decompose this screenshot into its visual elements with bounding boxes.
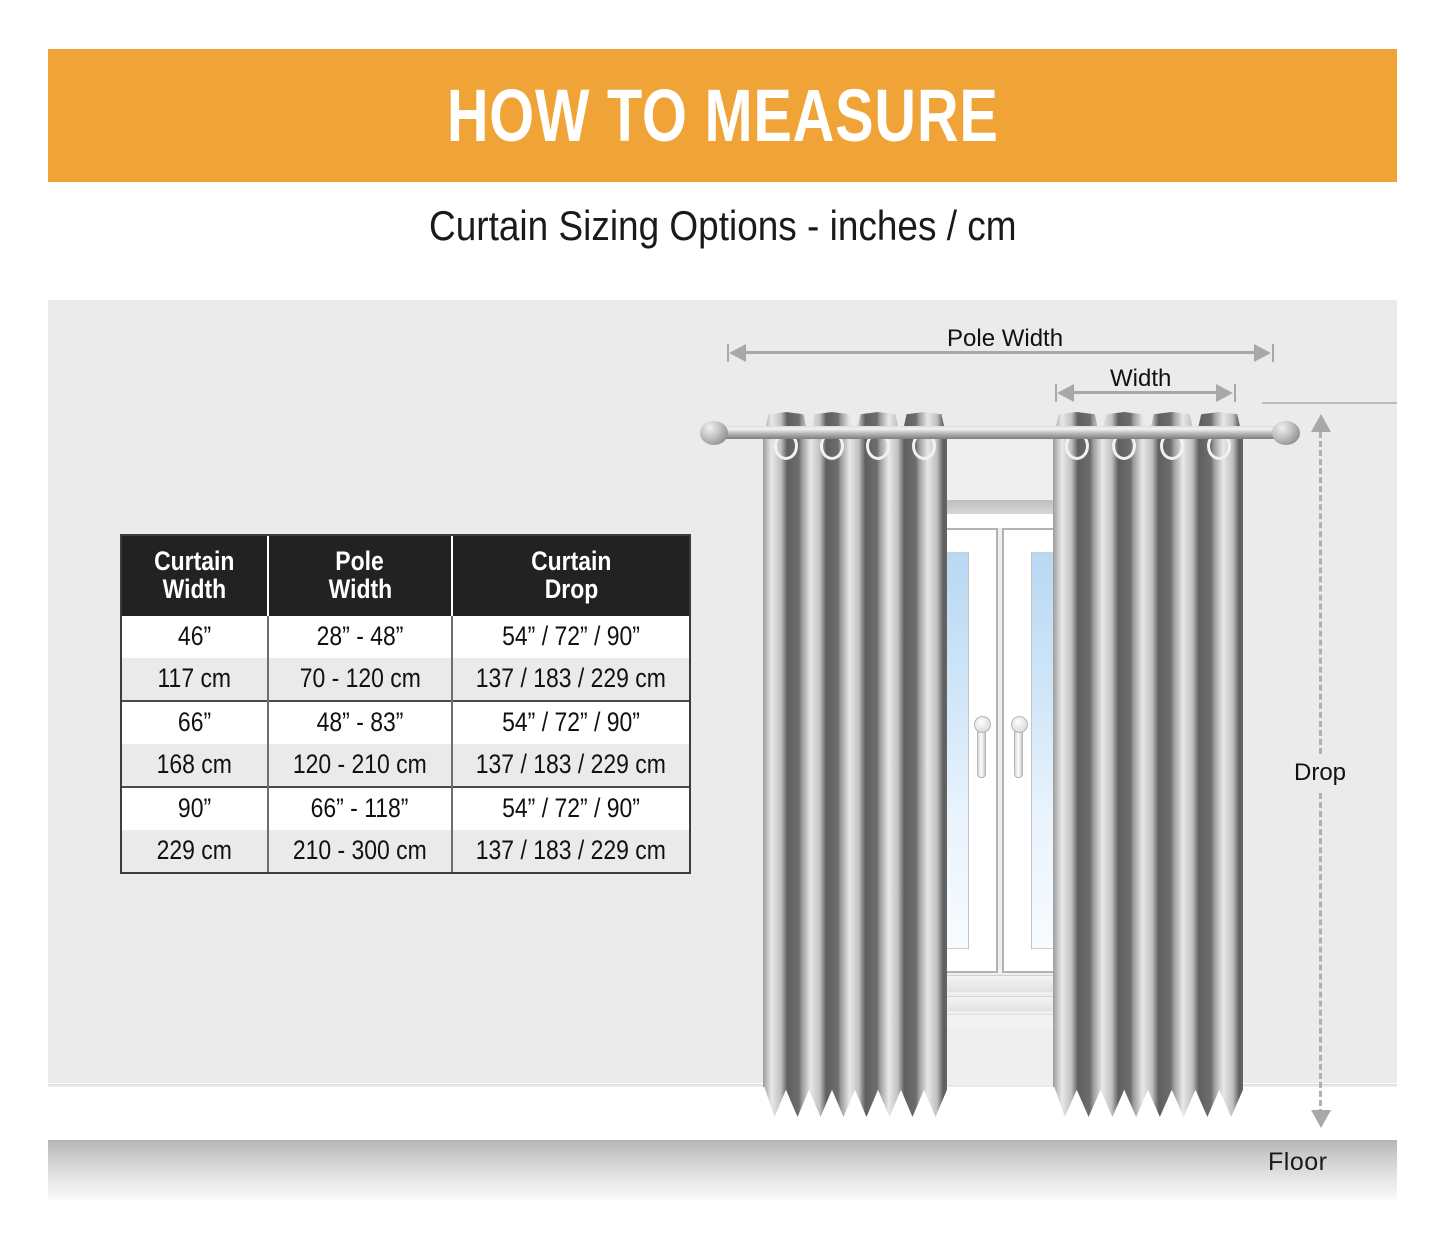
cell-pole-width-text: 210 - 300 cm — [293, 835, 427, 866]
subtitle-text: Curtain Sizing Options - inches / cm — [429, 205, 1016, 247]
table-row: 229 cm210 - 300 cm137 / 183 / 229 cm — [122, 830, 689, 872]
page-title: HOW TO MEASURE — [447, 79, 999, 153]
cell-curtain-drop: 137 / 183 / 229 cm — [452, 830, 689, 872]
cell-curtain-width-text: 66” — [178, 707, 211, 738]
cell-pole-width-text: 120 - 210 cm — [293, 749, 427, 780]
drop-arrow-up — [1311, 414, 1331, 432]
cell-curtain-width-text: 168 cm — [157, 749, 232, 780]
column-header-curtain-width: Curtain Width — [122, 536, 268, 616]
cell-pole-width: 48” - 83” — [268, 701, 453, 744]
col2-line1: Pole — [336, 548, 384, 576]
cell-pole-width: 28” - 48” — [268, 616, 453, 658]
curtain-fabric — [1053, 430, 1243, 1087]
curtain-sizing-table: Curtain Width Pole Width Curtain Drop 46… — [122, 536, 689, 872]
table-row: 46”28” - 48”54” / 72” / 90” — [122, 616, 689, 658]
col1-line1: Curtain — [154, 548, 234, 576]
width-line — [1072, 391, 1218, 394]
cell-curtain-width: 168 cm — [122, 744, 268, 787]
table-header-row: Curtain Width Pole Width Curtain Drop — [122, 536, 689, 616]
curtain-hem — [763, 1083, 947, 1117]
col1-line2: Width — [163, 576, 227, 604]
cell-pole-width: 120 - 210 cm — [268, 744, 453, 787]
cell-pole-width-text: 48” - 83” — [317, 707, 404, 738]
curtain-hem — [1053, 1083, 1243, 1117]
col3-line2: Drop — [544, 576, 598, 604]
cell-pole-width-text: 66” - 118” — [311, 793, 409, 824]
cell-curtain-drop: 137 / 183 / 229 cm — [452, 744, 689, 787]
cell-curtain-width: 117 cm — [122, 658, 268, 701]
width-cap-right — [1234, 384, 1236, 402]
pole-width-cap-right — [1272, 344, 1274, 362]
cell-curtain-drop: 54” / 72” / 90” — [452, 787, 689, 830]
cell-pole-width: 70 - 120 cm — [268, 658, 453, 701]
cell-curtain-width: 46” — [122, 616, 268, 658]
pole-width-arrow-right — [1254, 344, 1271, 362]
column-header-curtain-drop: Curtain Drop — [452, 536, 689, 616]
curtain-panel-left — [763, 412, 947, 1117]
cell-curtain-width-text: 229 cm — [157, 835, 232, 866]
cell-curtain-width: 66” — [122, 701, 268, 744]
table-row: 66”48” - 83”54” / 72” / 90” — [122, 701, 689, 744]
cell-pole-width: 66” - 118” — [268, 787, 453, 830]
cell-pole-width: 210 - 300 cm — [268, 830, 453, 872]
pole-finial-right — [1272, 421, 1300, 445]
curtain-fabric — [763, 430, 947, 1087]
cell-pole-width-text: 28” - 48” — [317, 621, 404, 652]
drop-top-rule — [1262, 402, 1397, 404]
table-row: 90”66” - 118”54” / 72” / 90” — [122, 787, 689, 830]
cell-curtain-width-text: 46” — [178, 621, 211, 652]
width-label: Width — [1110, 365, 1171, 393]
window-handle-left — [977, 726, 986, 778]
cell-curtain-drop-text: 54” / 72” / 90” — [502, 793, 640, 824]
cell-curtain-drop-text: 54” / 72” / 90” — [502, 707, 640, 738]
header-banner: HOW TO MEASURE — [48, 49, 1397, 182]
curtain-pole — [700, 421, 1300, 443]
cell-curtain-drop: 54” / 72” / 90” — [452, 701, 689, 744]
cell-curtain-width-text: 117 cm — [158, 663, 232, 694]
column-header-pole-width: Pole Width — [268, 536, 453, 616]
table-row: 168 cm120 - 210 cm137 / 183 / 229 cm — [122, 744, 689, 787]
curtain-panel-right — [1053, 412, 1243, 1117]
pole-rod — [714, 426, 1286, 439]
pole-width-line — [744, 351, 1258, 354]
cell-curtain-drop-text: 137 / 183 / 229 cm — [476, 749, 666, 780]
cell-curtain-drop: 137 / 183 / 229 cm — [452, 658, 689, 701]
cell-curtain-width: 90” — [122, 787, 268, 830]
cell-curtain-drop: 54” / 72” / 90” — [452, 616, 689, 658]
window-handle-right — [1014, 726, 1023, 778]
cell-curtain-drop-text: 137 / 183 / 229 cm — [476, 663, 666, 694]
cell-pole-width-text: 70 - 120 cm — [299, 663, 420, 694]
cell-curtain-width: 229 cm — [122, 830, 268, 872]
pole-width-label: Pole Width — [947, 325, 1063, 353]
width-arrow-right — [1216, 384, 1233, 402]
floor-band — [48, 1140, 1397, 1202]
col3-line1: Curtain — [531, 548, 611, 576]
cell-curtain-width-text: 90” — [178, 793, 211, 824]
col2-line2: Width — [328, 576, 392, 604]
drop-arrow-down — [1311, 1110, 1331, 1128]
drop-label: Drop — [1288, 755, 1352, 791]
cell-curtain-drop-text: 54” / 72” / 90” — [502, 621, 640, 652]
cell-curtain-drop-text: 137 / 183 / 229 cm — [476, 835, 666, 866]
floor-label: Floor — [1268, 1148, 1327, 1177]
table-row: 117 cm70 - 120 cm137 / 183 / 229 cm — [122, 658, 689, 701]
pole-finial-left — [700, 421, 728, 445]
subtitle: Curtain Sizing Options - inches / cm — [0, 205, 1445, 247]
